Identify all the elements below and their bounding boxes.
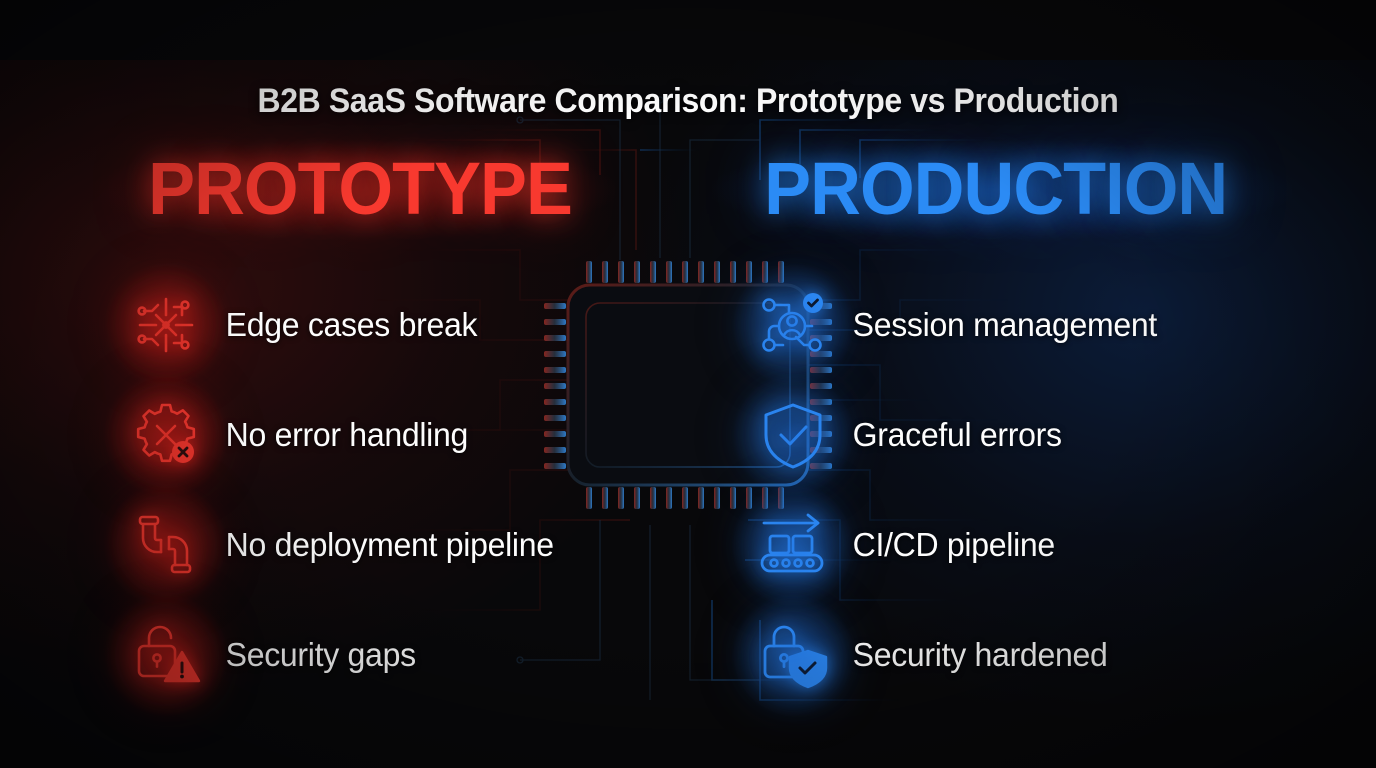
locked-padlock-shield-icon: [745, 607, 841, 703]
conveyor-belt-arrow-icon: [745, 497, 841, 593]
list-item: Security hardened: [745, 600, 1305, 710]
production-heading: PRODUCTION: [764, 152, 1227, 226]
unlocked-padlock-warning-icon: [118, 607, 214, 703]
broken-circuit-node-icon: [118, 277, 214, 373]
list-item-label: No error handling: [214, 416, 468, 454]
infographic-stage: B2B SaaS Software Comparison: Prototype …: [0, 0, 1376, 768]
prototype-heading: PROTOTYPE: [148, 152, 572, 226]
list-item-label: Session management: [841, 306, 1157, 344]
list-item: Edge cases break: [118, 270, 678, 380]
list-item-label: CI/CD pipeline: [841, 526, 1055, 564]
user-network-verified-icon: [745, 277, 841, 373]
shield-check-icon: [745, 387, 841, 483]
list-item-label: Security hardened: [841, 636, 1108, 674]
broken-pipe-icon: [118, 497, 214, 593]
list-item: CI/CD pipeline: [745, 490, 1305, 600]
production-column: Session management Graceful errors: [745, 270, 1305, 710]
list-item-label: Graceful errors: [841, 416, 1062, 454]
list-item-label: No deployment pipeline: [214, 526, 554, 564]
list-item-label: Edge cases break: [214, 306, 477, 344]
list-item: Session management: [745, 270, 1305, 380]
list-item-label: Security gaps: [214, 636, 416, 674]
gear-error-icon: [118, 387, 214, 483]
prototype-column: Edge cases break No error handling: [118, 270, 678, 710]
list-item: No deployment pipeline: [118, 490, 678, 600]
list-item: Security gaps: [118, 600, 678, 710]
list-item: Graceful errors: [745, 380, 1305, 490]
list-item: No error handling: [118, 380, 678, 490]
page-title: B2B SaaS Software Comparison: Prototype …: [41, 82, 1334, 121]
